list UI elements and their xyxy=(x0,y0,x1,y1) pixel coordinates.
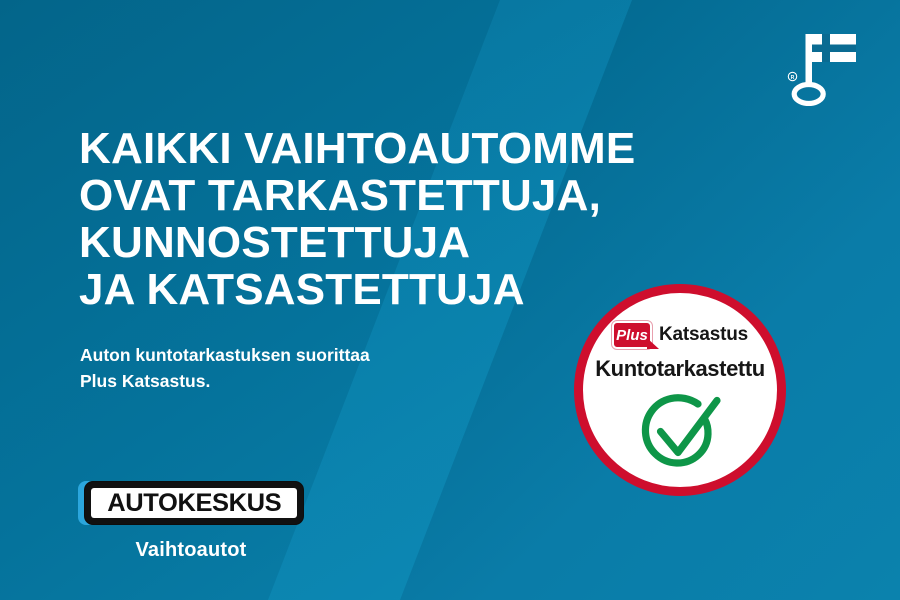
svg-text:R: R xyxy=(791,75,795,81)
autokeskus-brand-lockup[interactable]: AUTOKESKUS Vaihtoautot xyxy=(78,481,318,562)
brand-tagline: Vaihtoautot xyxy=(78,539,304,562)
plate-body: AUTOKESKUS xyxy=(84,481,304,525)
autokeskus-logo[interactable]: AUTOKESKUS xyxy=(78,481,304,525)
plus-katsastus-logo: Plus Katsastus xyxy=(612,321,748,349)
headline-line-4: JA KATSASTETTUJA xyxy=(79,266,679,313)
promo-banner: R KAIKKI VAIHTOAUTOMME OVAT TARKASTETTUJ… xyxy=(0,0,900,600)
badge-claim-label: Kuntotarkastettu xyxy=(595,356,765,382)
headline-line-2: OVAT TARKASTETTUJA, xyxy=(79,172,679,219)
plus-katsastus-badge: Plus Katsastus Kuntotarkastettu xyxy=(574,284,786,496)
plus-chip-label: Plus xyxy=(616,328,648,343)
plus-chip-icon: Plus xyxy=(612,321,652,349)
katsastus-wordmark: Katsastus xyxy=(659,324,748,346)
subheadline: Auton kuntotarkastuksen suorittaa Plus K… xyxy=(80,342,510,394)
plate-inner: AUTOKESKUS xyxy=(91,488,297,518)
page-title: KAIKKI VAIHTOAUTOMME OVAT TARKASTETTUJA,… xyxy=(79,125,679,313)
subheadline-line-2: Plus Katsastus. xyxy=(80,368,510,394)
autokeskus-wordmark: AUTOKESKUS xyxy=(107,491,281,516)
headline-line-3: KUNNOSTETTUJA xyxy=(79,219,679,266)
avainlippu-key-flag-icon: R xyxy=(786,26,860,106)
headline-line-1: KAIKKI VAIHTOAUTOMME xyxy=(79,125,679,172)
plus-swoosh-icon xyxy=(647,338,659,349)
green-check-circle-icon xyxy=(634,391,726,473)
subheadline-line-1: Auton kuntotarkastuksen suorittaa xyxy=(80,342,510,368)
